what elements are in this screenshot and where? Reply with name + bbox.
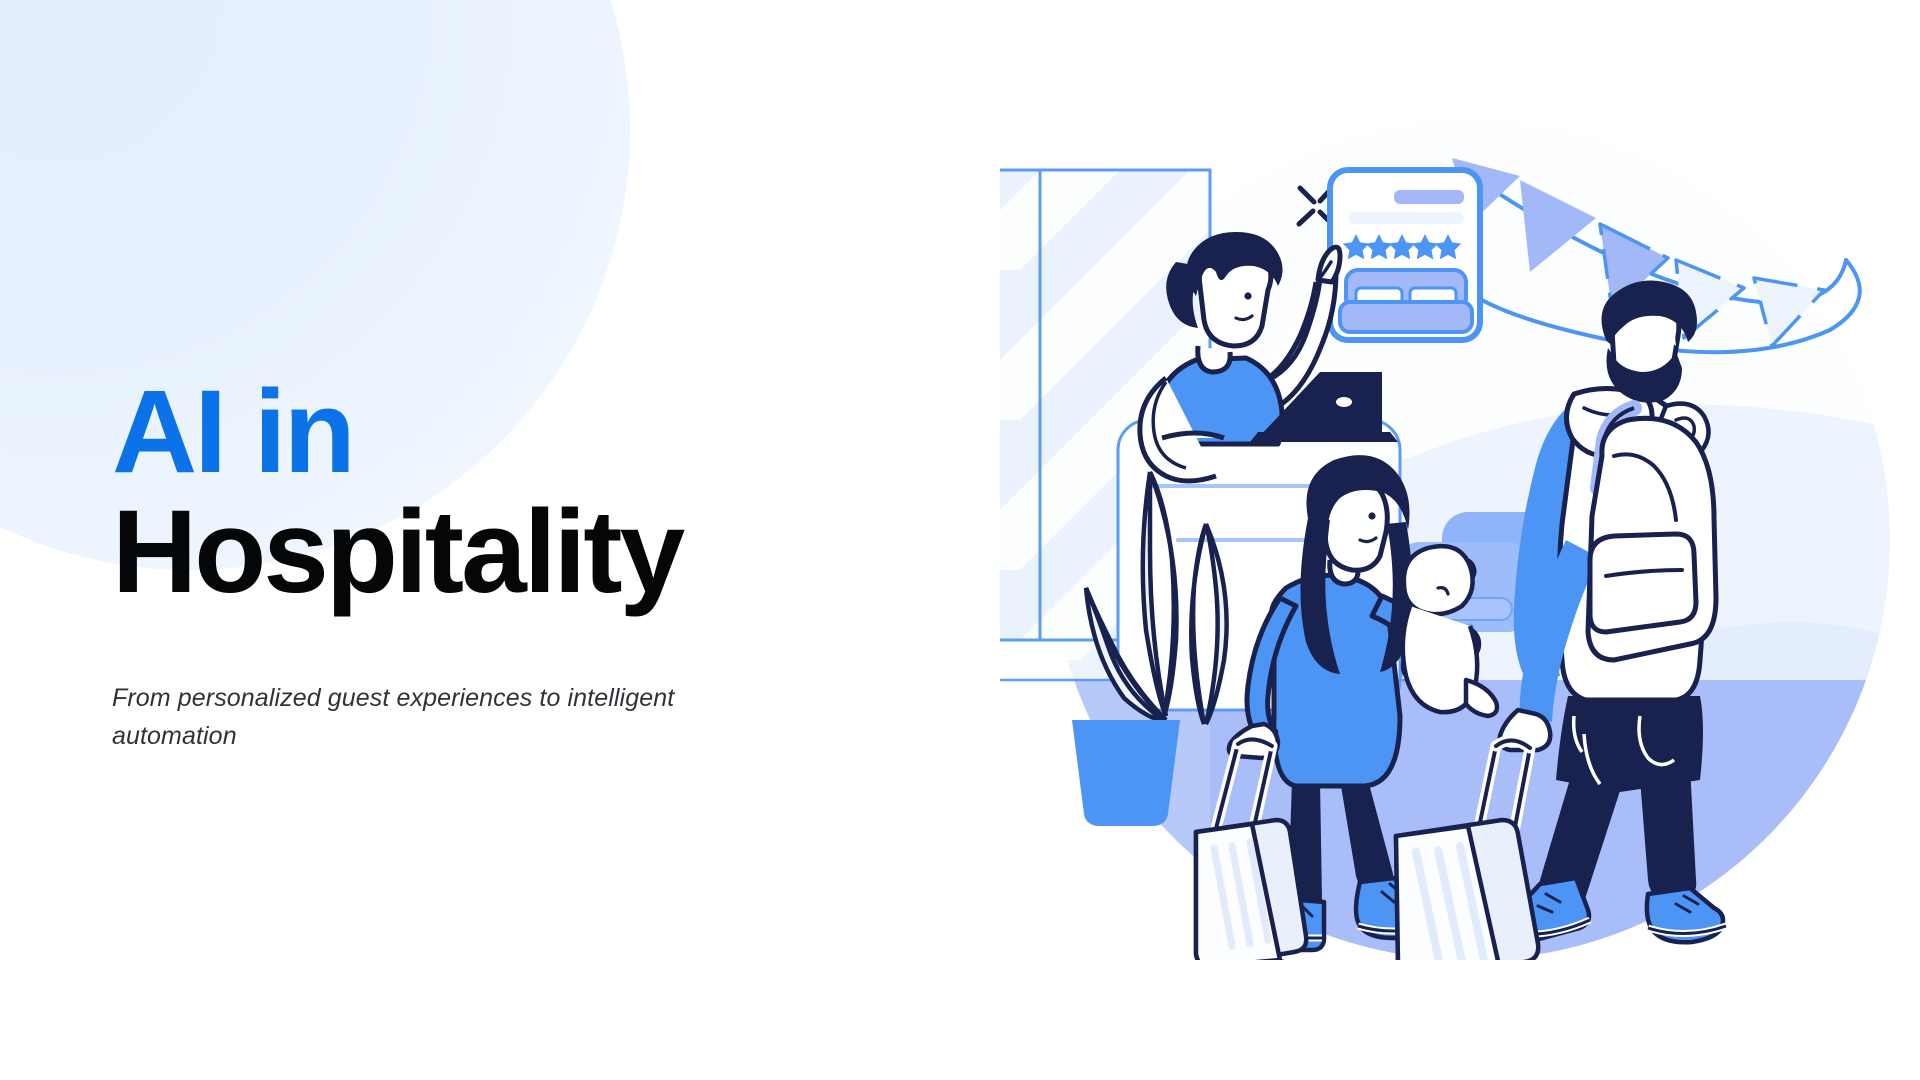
backpack: [1588, 408, 1716, 660]
booking-card-bar-primary: [1394, 190, 1464, 204]
plant-pot: [1072, 720, 1180, 826]
receptionist-eye: [1244, 292, 1251, 299]
girl-eye: [1368, 512, 1375, 519]
booking-card-bar-secondary: [1348, 212, 1464, 224]
headline-line-1: AI in: [112, 372, 872, 492]
text-column: AI in Hospitality From personalized gues…: [112, 372, 872, 755]
slide-root: AI in Hospitality From personalized gues…: [0, 0, 1920, 1080]
page-title: AI in Hospitality: [112, 372, 872, 613]
booking-card: [1330, 170, 1480, 340]
headline-line-2: Hospitality: [112, 492, 872, 612]
hotel-reception-illustration: [1000, 120, 1900, 960]
subtitle: From personalized guest experiences to i…: [112, 679, 752, 755]
booking-card-bed: [1340, 270, 1472, 332]
